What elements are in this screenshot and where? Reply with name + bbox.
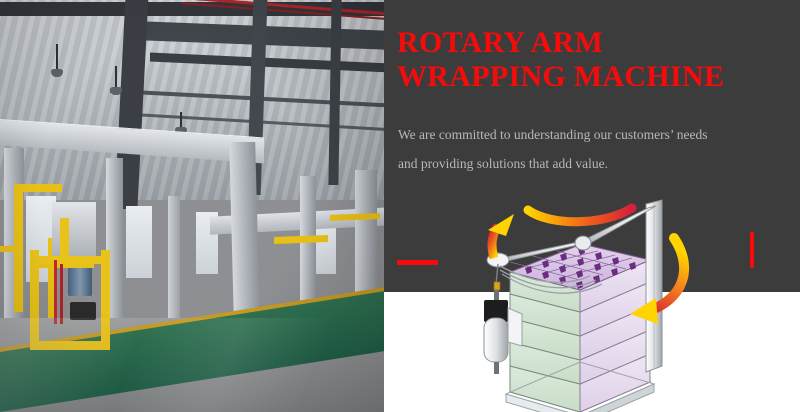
machine-illustration [470, 196, 710, 412]
text-panel: ROTARY ARM WRAPPING MACHINE We are commi… [384, 0, 800, 412]
page-title: ROTARY ARM WRAPPING MACHINE [397, 26, 797, 94]
pallet-load [506, 244, 654, 412]
machine-mast [646, 200, 662, 372]
photo-vignette [0, 0, 384, 412]
tagline-line-2: and providing solutions that add value. [398, 149, 796, 178]
promo-banner: ROTARY ARM WRAPPING MACHINE We are commi… [0, 0, 800, 412]
tagline: We are committed to understanding our cu… [398, 120, 796, 178]
factory-photo [0, 0, 384, 412]
tagline-line-1: We are committed to understanding our cu… [398, 120, 796, 149]
headline-line-1: ROTARY ARM [397, 26, 797, 60]
film-lift-arrow [488, 214, 514, 258]
rotation-arrow-top [528, 208, 632, 222]
headline-line-2: WRAPPING MACHINE [397, 60, 797, 94]
accent-rule-horizontal [397, 260, 438, 265]
accent-rule-vertical [750, 232, 754, 268]
